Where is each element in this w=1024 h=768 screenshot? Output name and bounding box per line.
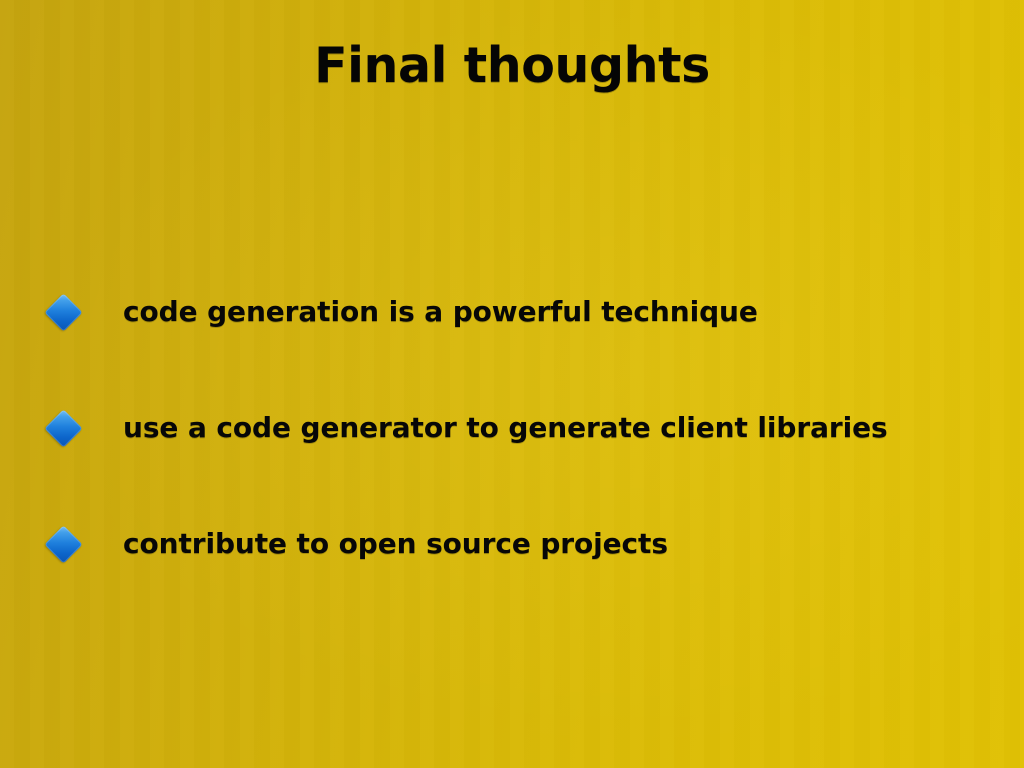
bullet-text: use a code generator to generate client …: [123, 411, 888, 445]
presentation-slide: Final thoughts code generation is a powe…: [0, 0, 1024, 768]
bullet-item: contribute to open source projects: [0, 520, 1024, 568]
bullet-list: code generation is a powerful technique …: [0, 288, 1024, 568]
slide-title: Final thoughts: [0, 38, 1024, 94]
bullet-text: contribute to open source projects: [123, 527, 668, 561]
blue-diamond-bullet-icon: [44, 409, 82, 447]
blue-diamond-bullet-icon: [44, 293, 82, 331]
bullet-text: code generation is a powerful technique: [123, 295, 758, 329]
blue-diamond-bullet-icon: [44, 525, 82, 563]
bullet-item: use a code generator to generate client …: [0, 404, 1024, 452]
bullet-item: code generation is a powerful technique: [0, 288, 1024, 336]
